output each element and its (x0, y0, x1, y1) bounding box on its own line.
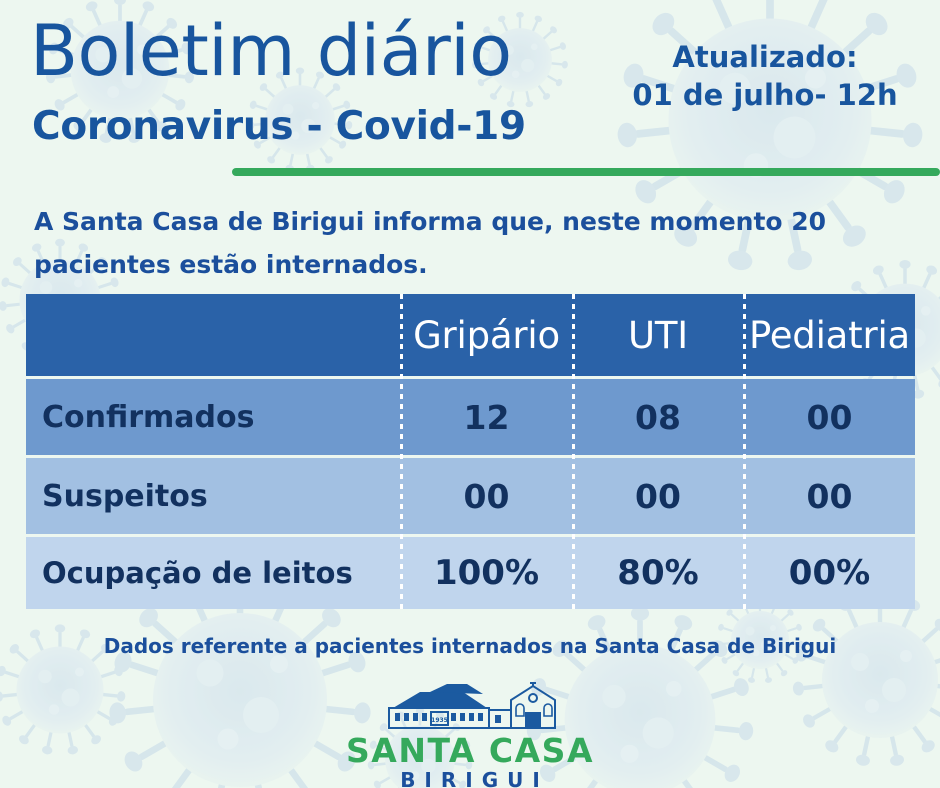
footer-note: Dados referente a pacientes internados n… (0, 634, 940, 658)
cell-ocupacao-uti: 80% (572, 537, 744, 609)
cell-confirmados-gripario: 12 (401, 379, 572, 455)
santa-casa-logo: 1935 SANTA CASA BIRIGUI (0, 682, 940, 788)
cell-suspeitos-pediatria: 00 (744, 458, 915, 534)
intro-paragraph: A Santa Casa de Birigui informa que, nes… (34, 200, 864, 286)
row-label-confirmados: Confirmados (26, 379, 401, 455)
row-label-suspeitos: Suspeitos (26, 458, 401, 534)
updated-block: Atualizado: 01 de julho- 12h (600, 38, 930, 114)
table-row: Confirmados 12 08 00 (26, 379, 915, 455)
logo-city: BIRIGUI (0, 768, 940, 788)
cell-confirmados-uti: 08 (572, 379, 744, 455)
column-header-gripario: Gripário (401, 294, 572, 376)
updated-timestamp: 01 de julho- 12h (600, 76, 930, 114)
hospital-building-icon: 1935 (375, 682, 565, 732)
cell-ocupacao-gripario: 100% (401, 537, 572, 609)
column-header-pediatria: Pediatria (744, 294, 915, 376)
page-subtitle: Coronavirus - Covid-19 (32, 104, 526, 150)
cell-ocupacao-pediatria: 00% (744, 537, 915, 609)
table-header-corner (26, 294, 401, 376)
table-row: Suspeitos 00 00 00 (26, 458, 915, 534)
row-label-ocupacao-de-leitos: Ocupação de leitos (26, 537, 401, 609)
cell-suspeitos-uti: 00 (572, 458, 744, 534)
table-header-row: Gripário UTI Pediatria (26, 294, 915, 376)
poster-header: Boletim diário Coronavirus - Covid-19 At… (0, 0, 940, 190)
column-header-uti: UTI (572, 294, 744, 376)
svg-text:1935: 1935 (431, 717, 448, 724)
cell-confirmados-pediatria: 00 (744, 379, 915, 455)
cell-suspeitos-gripario: 00 (401, 458, 572, 534)
green-divider (232, 168, 940, 176)
updated-label: Atualizado: (600, 38, 930, 76)
daily-bulletin-poster: Boletim diário Coronavirus - Covid-19 At… (0, 0, 940, 788)
occupancy-table: Gripário UTI Pediatria Confirmados 12 08… (26, 294, 915, 609)
logo-name: SANTA CASA (0, 734, 940, 768)
page-title: Boletim diário (30, 12, 512, 90)
table-row: Ocupação de leitos 100% 80% 00% (26, 537, 915, 609)
